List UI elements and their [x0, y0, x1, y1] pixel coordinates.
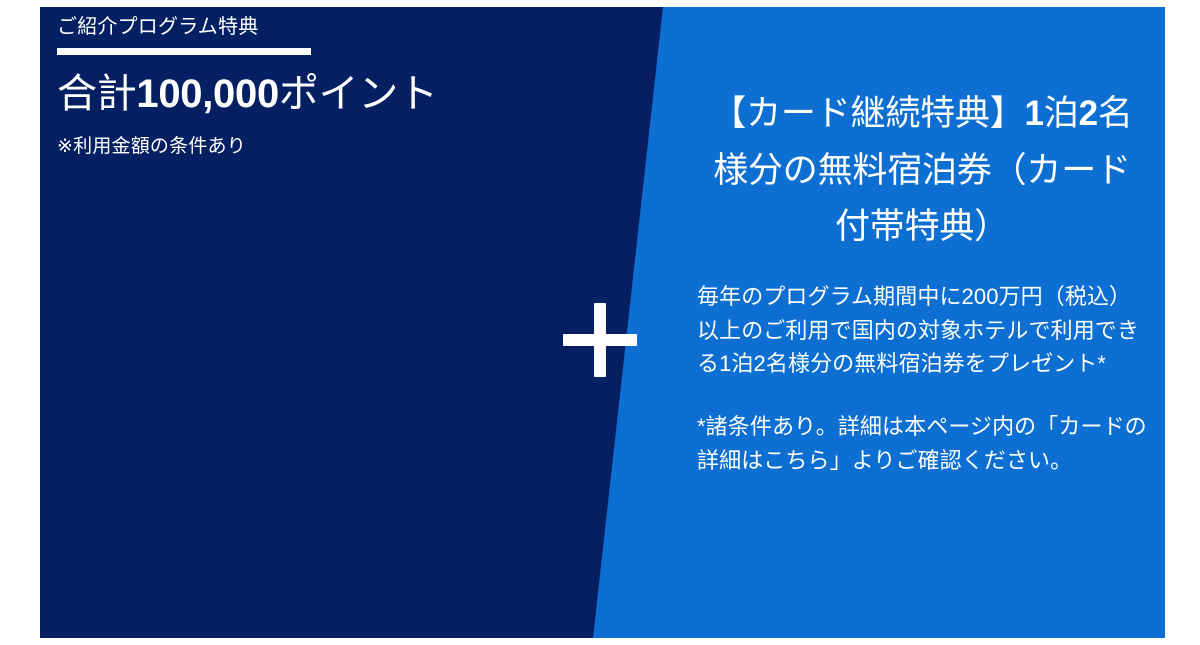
renewal-benefit-headline: 【カード継続特典】1泊2名様分の無料宿泊券（カード付帯特典）	[697, 86, 1147, 256]
points-headline-prefix: 合計	[57, 72, 136, 116]
referral-program-eyebrow: ご紹介プログラム特典	[57, 14, 557, 41]
renewal-benefit-description: 毎年のプログラム期間中に200万円（税込）以上のご利用で国内の対象ホテルで利用で…	[697, 280, 1147, 380]
eyebrow-underline-rule	[57, 48, 311, 55]
right-panel-content: 【カード継続特典】1泊2名様分の無料宿泊券（カード付帯特典） 毎年のプログラム期…	[697, 86, 1147, 477]
renewal-benefit-footnote: *諸条件あり。詳細は本ページ内の「カードの詳細はこちら」よりご確認ください。	[697, 410, 1147, 477]
renewal-headline-nights: 1	[1025, 94, 1044, 133]
points-headline-amount: 100,000	[136, 72, 279, 116]
renewal-headline-part-1: 【カード継続特典】	[711, 94, 1024, 133]
points-condition-note: ※利用金額の条件あり	[57, 134, 557, 161]
left-panel-content: ご紹介プログラム特典 合計100,000ポイント ※利用金額の条件あり	[57, 14, 557, 161]
plus-icon	[563, 303, 637, 377]
points-headline: 合計100,000ポイント	[57, 71, 557, 118]
plus-icon-vertical-bar	[594, 303, 606, 377]
points-headline-suffix: ポイント	[279, 72, 438, 116]
renewal-headline-part-2: 泊	[1044, 94, 1079, 133]
benefit-banner: ご紹介プログラム特典 合計100,000ポイント ※利用金額の条件あり 【カード…	[0, 0, 1200, 645]
renewal-headline-guests: 2	[1079, 94, 1098, 133]
